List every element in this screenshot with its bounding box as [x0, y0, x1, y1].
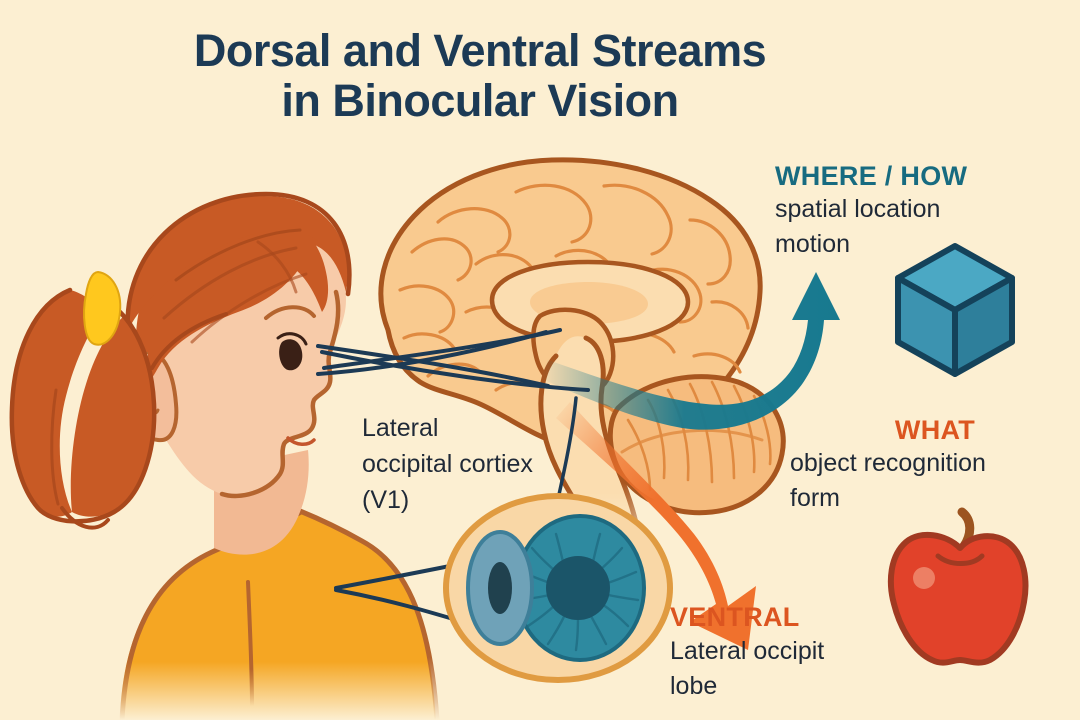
eye-lens-core: [488, 562, 512, 614]
dorsal-sub-line-2: motion: [775, 227, 1075, 262]
v1-annotation: Lateral occipital cortiex (V1): [362, 410, 572, 518]
ventral-sub-line-1: Lateral occipit: [670, 634, 970, 669]
cube-icon: [898, 246, 1012, 374]
diagram-canvas: Dorsal and Ventral Streams in Binocular …: [0, 0, 1080, 720]
eye-pupil: [546, 556, 610, 620]
ventral-sub-line-2: lobe: [670, 669, 970, 704]
title-line-2: in Binocular Vision: [0, 76, 960, 126]
eye-cross-section: [446, 496, 670, 680]
what-sub-line-1: object recognition: [790, 446, 1080, 481]
what-stream-label: WHAT object recognition form: [790, 414, 1080, 516]
apple-highlight: [913, 567, 935, 589]
v1-line-3: (V1): [362, 482, 572, 518]
dorsal-stream-label: WHERE / HOW spatial location motion: [775, 160, 1075, 262]
v1-line-1: Lateral: [362, 410, 572, 446]
page-title: Dorsal and Ventral Streams in Binocular …: [0, 26, 960, 126]
title-line-1: Dorsal and Ventral Streams: [0, 26, 960, 76]
what-heading: WHAT: [790, 414, 1080, 446]
dorsal-sub-line-1: spatial location: [775, 192, 1075, 227]
what-sub-line-2: form: [790, 481, 1080, 516]
ventral-heading: VENTRAL: [670, 600, 970, 634]
dorsal-heading: WHERE / HOW: [775, 160, 1075, 192]
ventral-stream-label: VENTRAL Lateral occipit lobe: [670, 600, 970, 704]
v1-line-2: occipital cortiex: [362, 446, 572, 482]
